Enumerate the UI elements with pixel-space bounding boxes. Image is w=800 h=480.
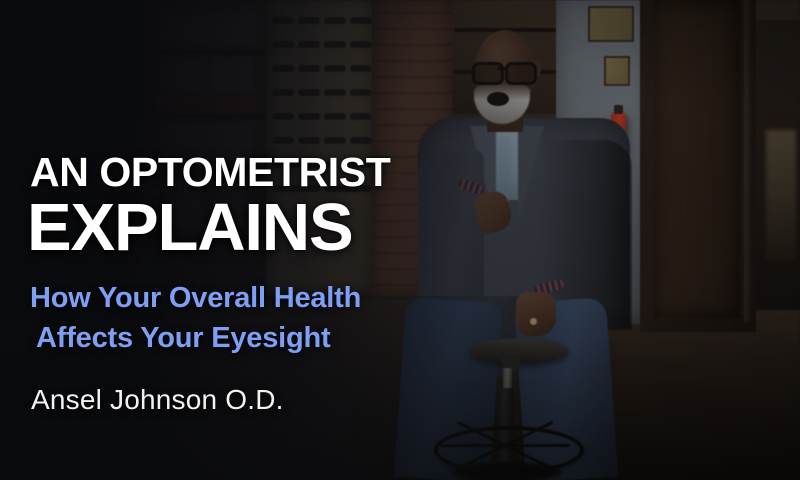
title-line-1: AN OPTOMETRIST — [30, 152, 390, 193]
byline-presenter-name: Ansel Johnson O.D. — [31, 386, 284, 414]
video-title-card: AN OPTOMETRIST EXPLAINS How Your Overall… — [0, 0, 800, 480]
subtitle-line-1: How Your Overall Health — [30, 282, 361, 314]
title-text-layer: AN OPTOMETRIST EXPLAINS How Your Overall… — [0, 0, 800, 480]
subtitle-block: How Your Overall Health Affects Your Eye… — [30, 278, 361, 358]
title-line-2: EXPLAINS — [27, 194, 352, 261]
subtitle-line-2: Affects Your Eyesight — [30, 318, 361, 358]
